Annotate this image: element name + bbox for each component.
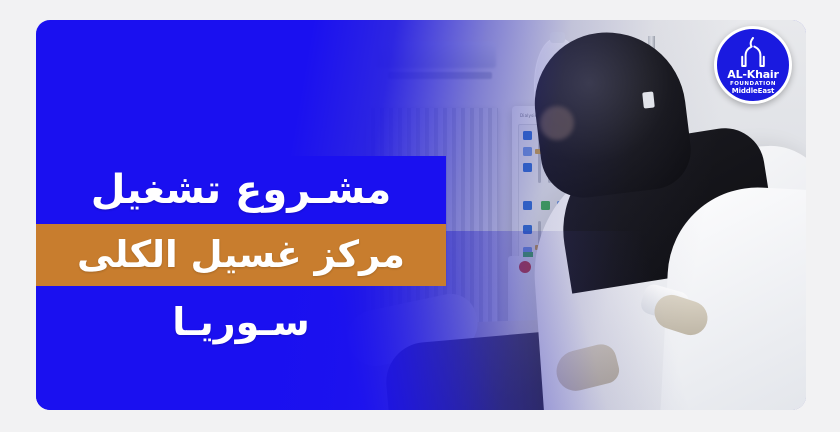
banner-card: Dialysis Medical Sys	[36, 20, 806, 410]
logo-subtitle-text: FOUNDATION	[730, 81, 776, 88]
headline-block: مشـروع تشغيل مركز غسيل الكلى سـوريـا	[36, 156, 806, 358]
headline-line-3: سـوريـا	[36, 286, 446, 358]
headline-line-1: مشـروع تشغيل	[36, 156, 446, 224]
screenshot-canvas: Dialysis Medical Sys	[0, 0, 840, 432]
logo-region-text: MiddleEast	[732, 87, 775, 95]
headline-line-2: مركز غسيل الكلى	[36, 224, 446, 286]
al-khair-logo-badge[interactable]: AL-Khair FOUNDATION MiddleEast	[714, 26, 792, 104]
mosque-arch-icon	[736, 37, 770, 67]
logo-name-text: AL-Khair	[727, 69, 778, 81]
